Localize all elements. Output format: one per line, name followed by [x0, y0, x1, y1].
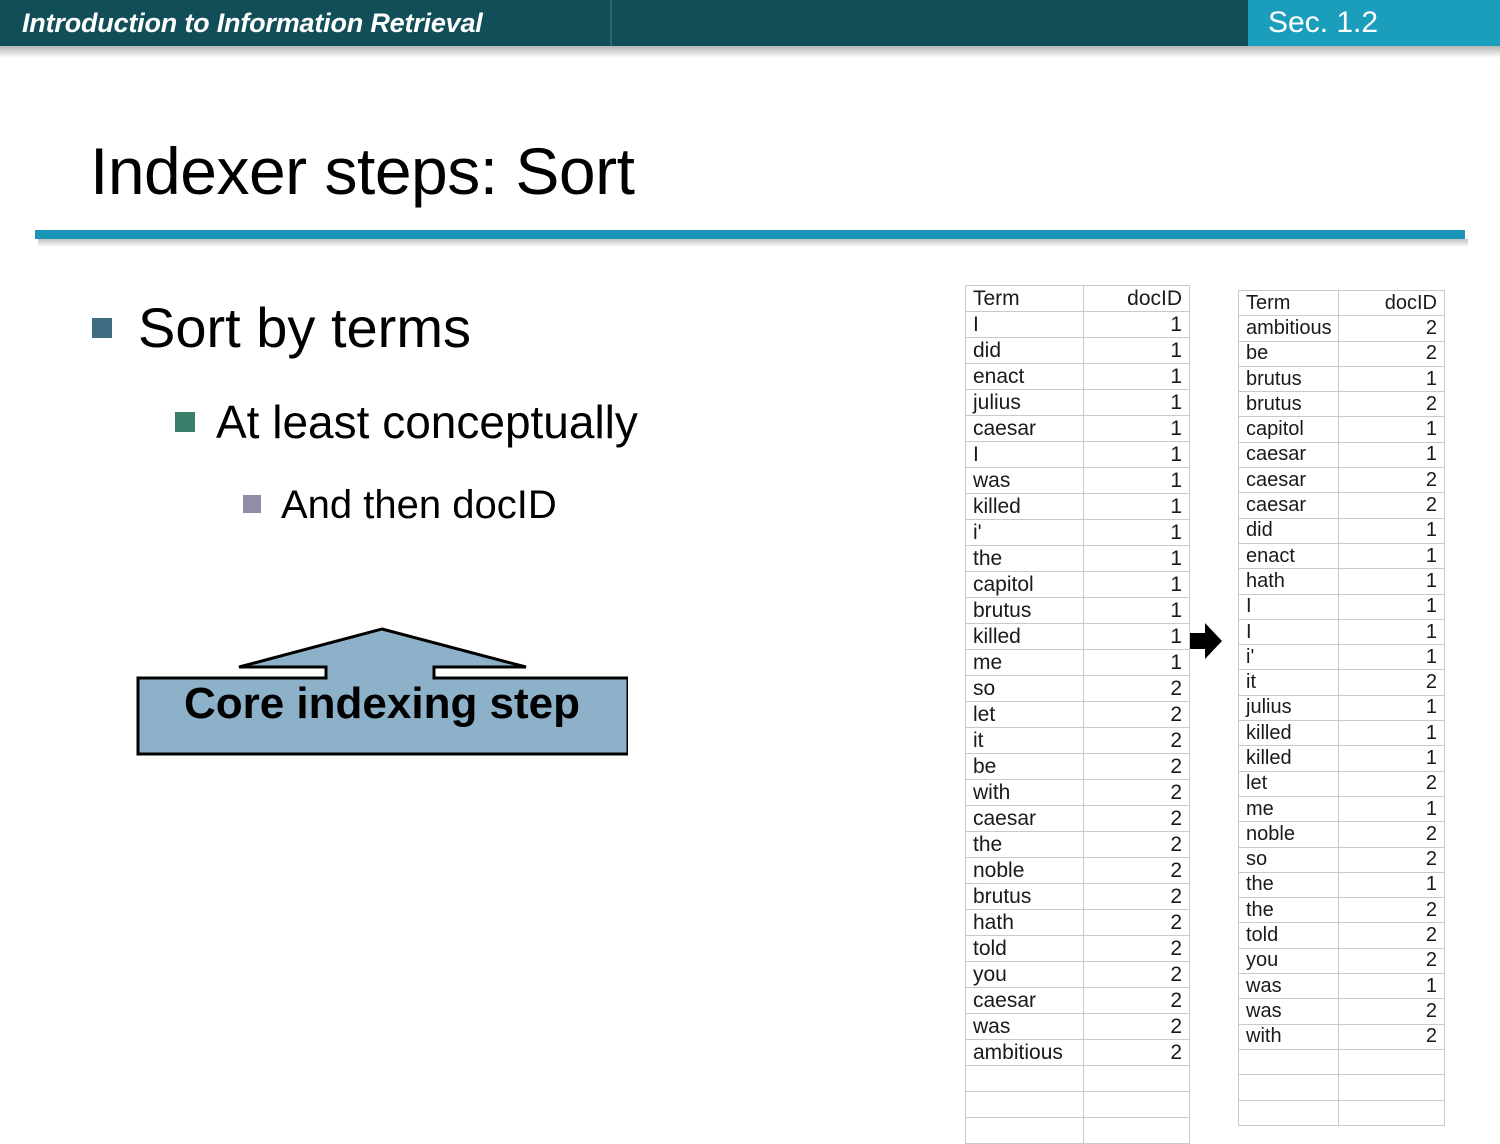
table-row: brutus2 — [966, 884, 1190, 910]
table-header-row: Term docID — [1239, 291, 1445, 316]
table-row: julius1 — [966, 390, 1190, 416]
cell-docid: 1 — [1084, 624, 1190, 650]
table-row: noble2 — [966, 858, 1190, 884]
cell-docid: 1 — [1084, 338, 1190, 364]
core-indexing-step-label: Core indexing step — [136, 679, 628, 729]
cell-term: capitol — [966, 572, 1084, 598]
cell-docid — [1084, 1118, 1190, 1144]
cell-docid: 2 — [1339, 341, 1445, 366]
bullet-square-icon — [92, 318, 112, 338]
cell-term: told — [966, 936, 1084, 962]
cell-term: so — [966, 676, 1084, 702]
table-row: brutus1 — [966, 598, 1190, 624]
cell-term: brutus — [1239, 392, 1339, 417]
cell-term — [966, 1092, 1084, 1118]
cell-term: with — [966, 780, 1084, 806]
cell-docid: 2 — [1084, 806, 1190, 832]
page-title: Indexer steps: Sort — [90, 133, 634, 209]
table-row-empty — [1239, 1075, 1445, 1100]
table-row: did1 — [1239, 518, 1445, 543]
cell-term: brutus — [966, 884, 1084, 910]
cell-docid: 2 — [1084, 988, 1190, 1014]
cell-term: with — [1239, 1024, 1339, 1049]
table-row-empty — [966, 1066, 1190, 1092]
bullet-square-icon — [243, 495, 261, 513]
table-row: with2 — [966, 780, 1190, 806]
cell-docid: 1 — [1084, 572, 1190, 598]
cell-term — [1239, 1075, 1339, 1100]
table-row-empty — [1239, 1049, 1445, 1074]
section-badge: Sec. 1.2 — [1248, 0, 1500, 46]
bullet-square-icon — [175, 412, 195, 432]
cell-term: be — [966, 754, 1084, 780]
cell-docid: 1 — [1084, 312, 1190, 338]
cell-docid: 2 — [1084, 858, 1190, 884]
cell-docid: 1 — [1084, 364, 1190, 390]
cell-docid: 2 — [1084, 676, 1190, 702]
table-row: let2 — [1239, 771, 1445, 796]
table-row-empty — [966, 1118, 1190, 1144]
cell-docid: 1 — [1339, 569, 1445, 594]
table-row: ambitious2 — [1239, 316, 1445, 341]
course-title: Introduction to Information Retrieval — [22, 8, 483, 39]
cell-docid — [1084, 1092, 1190, 1118]
cell-docid: 2 — [1339, 847, 1445, 872]
cell-term: hath — [1239, 569, 1339, 594]
right-arrow-icon — [1186, 622, 1222, 660]
section-badge-label: Sec. 1.2 — [1268, 6, 1378, 40]
cell-docid — [1084, 1066, 1190, 1092]
cell-docid: 2 — [1084, 936, 1190, 962]
header-left-section: Introduction to Information Retrieval — [0, 0, 612, 46]
table-row: brutus1 — [1239, 366, 1445, 391]
cell-term: did — [1239, 518, 1339, 543]
bullet-level2-label: At least conceptually — [216, 396, 638, 448]
table-row: it2 — [1239, 670, 1445, 695]
table-row: i'1 — [1239, 645, 1445, 670]
table-row: the1 — [1239, 872, 1445, 897]
cell-docid: 1 — [1084, 390, 1190, 416]
table-row: caesar1 — [1239, 442, 1445, 467]
header-shadow — [0, 46, 1500, 58]
cell-term: julius — [966, 390, 1084, 416]
table-row: so2 — [966, 676, 1190, 702]
bullet-level1: Sort by terms — [92, 297, 471, 359]
table-row: capitol1 — [1239, 417, 1445, 442]
cell-term: capitol — [1239, 417, 1339, 442]
table-row: you2 — [1239, 948, 1445, 973]
cell-term: caesar — [1239, 442, 1339, 467]
cell-docid: 1 — [1084, 520, 1190, 546]
table-row: noble2 — [1239, 822, 1445, 847]
table-row-empty — [1239, 1100, 1445, 1125]
cell-docid: 2 — [1339, 822, 1445, 847]
cell-term: the — [1239, 898, 1339, 923]
table-row: the2 — [966, 832, 1190, 858]
table-row-empty — [966, 1092, 1190, 1118]
cell-term — [1239, 1049, 1339, 1074]
column-header-docid: docID — [1084, 286, 1190, 312]
cell-docid: 1 — [1339, 594, 1445, 619]
cell-term: let — [966, 702, 1084, 728]
table-row: enact1 — [966, 364, 1190, 390]
title-divider-shadow — [38, 239, 1468, 247]
table-row: with2 — [1239, 1024, 1445, 1049]
cell-docid: 1 — [1339, 974, 1445, 999]
table-row: caesar2 — [1239, 468, 1445, 493]
cell-term: hath — [966, 910, 1084, 936]
cell-docid: 1 — [1339, 619, 1445, 644]
table-row: told2 — [966, 936, 1190, 962]
cell-docid: 1 — [1339, 746, 1445, 771]
cell-term: let — [1239, 771, 1339, 796]
table-row: I1 — [966, 442, 1190, 468]
table-row: did1 — [966, 338, 1190, 364]
cell-docid: 1 — [1339, 442, 1445, 467]
cell-term: noble — [966, 858, 1084, 884]
cell-term: ambitious — [1239, 316, 1339, 341]
cell-docid: 1 — [1084, 546, 1190, 572]
cell-docid: 2 — [1339, 923, 1445, 948]
cell-docid: 2 — [1339, 670, 1445, 695]
cell-term: was — [966, 468, 1084, 494]
cell-docid: 2 — [1084, 702, 1190, 728]
title-divider-rule — [35, 230, 1465, 239]
cell-docid — [1339, 1049, 1445, 1074]
core-indexing-step-callout: Core indexing step — [136, 622, 628, 756]
table-row: brutus2 — [1239, 392, 1445, 417]
cell-docid: 2 — [1084, 832, 1190, 858]
table-row: killed1 — [966, 494, 1190, 520]
cell-docid: 2 — [1339, 493, 1445, 518]
cell-docid: 1 — [1339, 695, 1445, 720]
cell-docid: 1 — [1084, 598, 1190, 624]
table-row: hath2 — [966, 910, 1190, 936]
cell-docid: 2 — [1339, 468, 1445, 493]
cell-term: julius — [1239, 695, 1339, 720]
cell-term: brutus — [1239, 366, 1339, 391]
cell-term: i' — [966, 520, 1084, 546]
table-row: i'1 — [966, 520, 1190, 546]
table-row: told2 — [1239, 923, 1445, 948]
cell-term: killed — [966, 624, 1084, 650]
sorted-postings-table: Term docID ambitious2be2brutus1brutus2ca… — [1238, 290, 1445, 1126]
cell-term: it — [1239, 670, 1339, 695]
cell-docid: 2 — [1339, 999, 1445, 1024]
cell-term: the — [966, 832, 1084, 858]
cell-docid — [1339, 1075, 1445, 1100]
bullet-level3: And then docID — [243, 482, 557, 528]
cell-docid: 1 — [1339, 518, 1445, 543]
bullet-level1-label: Sort by terms — [138, 297, 471, 359]
cell-term — [966, 1066, 1084, 1092]
table-row: caesar1 — [966, 416, 1190, 442]
table-row: the2 — [1239, 898, 1445, 923]
cell-term: caesar — [966, 988, 1084, 1014]
cell-docid: 2 — [1339, 1024, 1445, 1049]
cell-docid: 1 — [1084, 650, 1190, 676]
cell-term: ambitious — [966, 1040, 1084, 1066]
cell-term: told — [1239, 923, 1339, 948]
table-row: I1 — [1239, 594, 1445, 619]
column-header-docid: docID — [1339, 291, 1445, 316]
table-row: I1 — [966, 312, 1190, 338]
cell-docid: 2 — [1339, 771, 1445, 796]
cell-term — [966, 1118, 1084, 1144]
table-row: caesar2 — [966, 806, 1190, 832]
cell-docid: 1 — [1339, 645, 1445, 670]
cell-term: killed — [1239, 746, 1339, 771]
table-row: caesar2 — [1239, 493, 1445, 518]
cell-docid: 2 — [1084, 962, 1190, 988]
cell-docid: 2 — [1084, 910, 1190, 936]
table-row: be2 — [1239, 341, 1445, 366]
unsorted-table-body: I1did1enact1julius1caesar1I1was1killed1i… — [966, 312, 1190, 1144]
table-row: capitol1 — [966, 572, 1190, 598]
cell-term: brutus — [966, 598, 1084, 624]
cell-docid: 1 — [1084, 442, 1190, 468]
cell-term: the — [966, 546, 1084, 572]
cell-docid: 1 — [1339, 796, 1445, 821]
cell-term: was — [1239, 999, 1339, 1024]
table-row: the1 — [966, 546, 1190, 572]
cell-docid: 1 — [1084, 468, 1190, 494]
table-row: me1 — [966, 650, 1190, 676]
column-header-term: Term — [1239, 291, 1339, 316]
cell-docid: 1 — [1084, 416, 1190, 442]
table-row: ambitious2 — [966, 1040, 1190, 1066]
cell-docid: 2 — [1339, 316, 1445, 341]
table-row: was1 — [1239, 974, 1445, 999]
cell-term: enact — [966, 364, 1084, 390]
table-row: killed1 — [1239, 746, 1445, 771]
cell-docid: 2 — [1084, 884, 1190, 910]
cell-term: noble — [1239, 822, 1339, 847]
cell-docid: 1 — [1339, 721, 1445, 746]
cell-docid: 2 — [1339, 392, 1445, 417]
cell-docid: 2 — [1084, 728, 1190, 754]
cell-docid: 2 — [1339, 948, 1445, 973]
cell-term: caesar — [966, 416, 1084, 442]
bullet-level2: At least conceptually — [175, 396, 638, 448]
cell-term: I — [1239, 594, 1339, 619]
cell-docid: 1 — [1339, 366, 1445, 391]
cell-term: was — [966, 1014, 1084, 1040]
cell-docid: 1 — [1339, 417, 1445, 442]
sorted-table-body: ambitious2be2brutus1brutus2capitol1caesa… — [1239, 316, 1445, 1126]
table-row: enact1 — [1239, 543, 1445, 568]
cell-term: the — [1239, 872, 1339, 897]
cell-term: was — [1239, 974, 1339, 999]
cell-term: caesar — [1239, 468, 1339, 493]
cell-term: killed — [1239, 721, 1339, 746]
slide-header-bar: Introduction to Information Retrieval Se… — [0, 0, 1500, 46]
table-row: killed1 — [966, 624, 1190, 650]
cell-term: you — [966, 962, 1084, 988]
cell-term: did — [966, 338, 1084, 364]
cell-term: killed — [966, 494, 1084, 520]
cell-docid: 1 — [1084, 494, 1190, 520]
table-row: I1 — [1239, 619, 1445, 644]
cell-term: i' — [1239, 645, 1339, 670]
cell-docid: 1 — [1339, 543, 1445, 568]
cell-term: caesar — [966, 806, 1084, 832]
table-row: me1 — [1239, 796, 1445, 821]
cell-docid — [1339, 1100, 1445, 1125]
cell-term: be — [1239, 341, 1339, 366]
cell-docid: 2 — [1084, 780, 1190, 806]
table-row: you2 — [966, 962, 1190, 988]
cell-term: I — [966, 442, 1084, 468]
cell-docid: 2 — [1084, 1040, 1190, 1066]
cell-term: enact — [1239, 543, 1339, 568]
cell-term: so — [1239, 847, 1339, 872]
table-row: was2 — [966, 1014, 1190, 1040]
cell-term: I — [966, 312, 1084, 338]
table-row: was2 — [1239, 999, 1445, 1024]
table-row: caesar2 — [966, 988, 1190, 1014]
table-header-row: Term docID — [966, 286, 1190, 312]
cell-docid: 2 — [1084, 1014, 1190, 1040]
cell-term — [1239, 1100, 1339, 1125]
column-header-term: Term — [966, 286, 1084, 312]
table-row: julius1 — [1239, 695, 1445, 720]
table-row: so2 — [1239, 847, 1445, 872]
cell-term: I — [1239, 619, 1339, 644]
unsorted-postings-table: Term docID I1did1enact1julius1caesar1I1w… — [965, 285, 1190, 1144]
cell-docid: 2 — [1339, 898, 1445, 923]
table-row: let2 — [966, 702, 1190, 728]
cell-docid: 1 — [1339, 872, 1445, 897]
table-row: be2 — [966, 754, 1190, 780]
cell-docid: 2 — [1084, 754, 1190, 780]
cell-term: me — [966, 650, 1084, 676]
table-row: hath1 — [1239, 569, 1445, 594]
cell-term: you — [1239, 948, 1339, 973]
table-row: it2 — [966, 728, 1190, 754]
cell-term: me — [1239, 796, 1339, 821]
cell-term: it — [966, 728, 1084, 754]
table-row: was1 — [966, 468, 1190, 494]
table-row: killed1 — [1239, 721, 1445, 746]
cell-term: caesar — [1239, 493, 1339, 518]
bullet-level3-label: And then docID — [281, 482, 557, 528]
